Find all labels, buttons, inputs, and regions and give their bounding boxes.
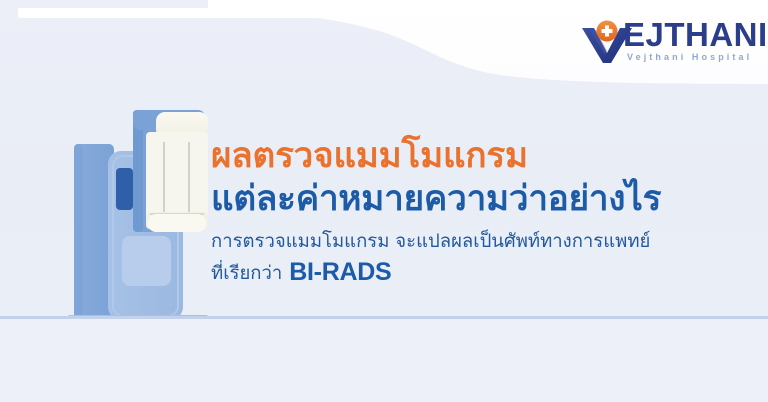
vejthani-logo[interactable]: EJTHANI Vejthani Hospital — [578, 12, 760, 70]
headline-line-2: แต่ละค่าหมายความว่าอย่างไร — [211, 179, 756, 220]
headline-text-block: ผลตรวจแมมโมแกรม แต่ละค่าหมายความว่าอย่าง… — [211, 136, 756, 288]
subtext-line-2: ที่เรียกว่าBI-RADS — [211, 256, 756, 289]
floor-area — [0, 319, 768, 402]
birads-term: BI-RADS — [289, 258, 391, 286]
floor-line — [0, 316, 768, 319]
mammogram-birads-banner: EJTHANI Vejthani Hospital — [0, 0, 768, 402]
mammography-machine-illustration — [60, 96, 230, 321]
logo-tagline: Vejthani Hospital — [627, 53, 752, 62]
subtext-line-1: การตรวจแมมโมแกรม จะแปลผลเป็นศัพท์ทางการแ… — [211, 230, 756, 254]
subtext-line-2-prefix: ที่เรียกว่า — [211, 263, 282, 284]
logo-wordmark: EJTHANI — [623, 18, 768, 51]
headline-line-1: ผลตรวจแมมโมแกรม — [211, 136, 756, 177]
